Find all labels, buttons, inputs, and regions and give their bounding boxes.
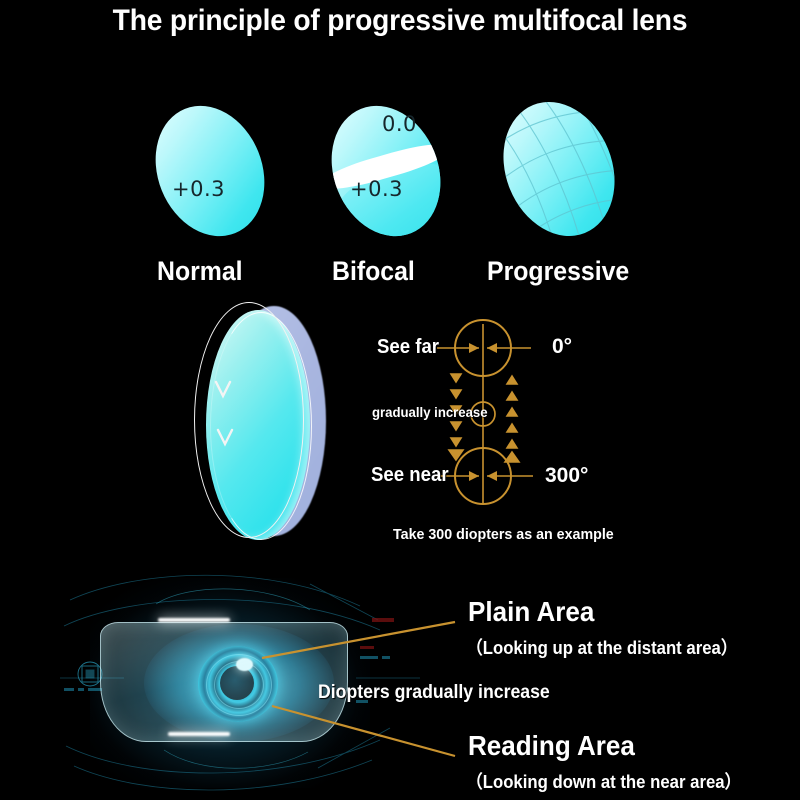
callout-plain-area-subtitle: （Looking up at the distant area） [466,634,738,660]
lens-bifocal-caption: Bifocal [332,256,415,287]
tilted-lens-disc [196,300,336,542]
lens-bifocal-top-value: 0.0 [382,112,417,136]
lens-bifocal-bottom-value: +0.3 [350,177,403,201]
see-near-degrees: 300° [545,464,588,488]
leader-lines [0,560,800,800]
callout-reading-area-title: Reading Area [468,730,635,762]
lens-progressive-shape [484,85,634,253]
see-far-degrees: 0° [552,335,572,359]
see-far-label: See far [377,336,439,359]
lens-normal-shape [137,89,284,252]
diopters-increase-note: Diopters gradually increase [318,682,550,704]
see-near-label: See near [371,464,449,487]
viewing-angle-diagram: See far 0° gradually increase See near 3… [355,318,645,558]
disc-downward-arrows [196,300,336,542]
callout-group: Plain Area （Looking up at the distant ar… [0,560,800,800]
infographic-poster: The principle of progressive multifocal … [0,0,800,800]
leader-line-reading-area [272,706,455,756]
leader-line-plain-area [262,622,455,658]
callout-reading-area-subtitle: （Looking down at the near area） [466,768,741,794]
callout-plain-area-title: Plain Area [468,596,594,628]
lens-type-row: +0.3 Normal 0.0 +0.3 Bifocal [0,52,800,242]
gradual-up-arrows [505,376,519,462]
progressive-mesh-grid [484,85,634,253]
page-title: The principle of progressive multifocal … [24,4,776,38]
lens-progressive-caption: Progressive [487,256,629,287]
lens-normal-value: +0.3 [172,177,225,201]
diagram-footnote: Take 300 diopters as an example [393,526,614,543]
gradual-increase-label: gradually increase [372,404,488,420]
lens-normal-caption: Normal [157,256,243,287]
